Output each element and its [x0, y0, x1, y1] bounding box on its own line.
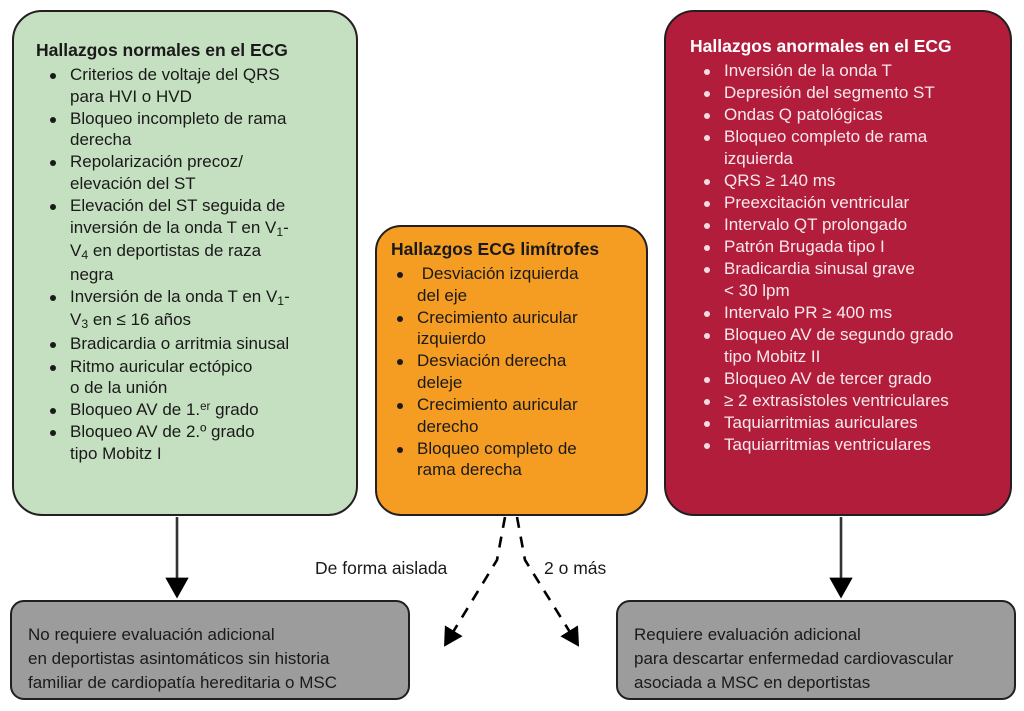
outcome-no-evaluation-box: No requiere evaluación adicional en depo… — [10, 600, 410, 700]
list-item: Taquiarritmias ventriculares — [698, 434, 998, 456]
list-item: Depresión del segmento ST — [698, 82, 998, 104]
list-item: Taquiarritmias auriculares — [698, 412, 998, 434]
borderline-findings-box: Hallazgos ECG limítrofes Desviación izqu… — [375, 225, 648, 516]
list-item: Bloqueo AV de 2.º gradotipo Mobitz I — [44, 421, 348, 464]
list-item: Intervalo PR ≥ 400 ms — [698, 302, 998, 324]
borderline-findings-list: Desviación izquierdadel eje Crecimiento … — [391, 263, 641, 481]
list-item: Patrón Brugada tipo I — [698, 236, 998, 258]
list-item: Desviación izquierdadel eje — [391, 263, 641, 306]
list-item: Intervalo QT prolongado — [698, 214, 998, 236]
arrow-borderline-isolated — [450, 517, 505, 637]
normal-findings-list: Criterios de voltaje del QRSpara HVI o H… — [44, 64, 348, 465]
list-item: Elevación del ST seguida deinversión de … — [44, 195, 348, 285]
list-item: Bloqueo incompleto de ramaderecha — [44, 108, 348, 151]
borderline-findings-title: Hallazgos ECG limítrofes — [391, 239, 599, 261]
outcome-evaluation-text: Requiere evaluación adicional para desca… — [634, 623, 953, 695]
abnormal-findings-box: Hallazgos anormales en el ECG Inversión … — [664, 10, 1012, 516]
normal-findings-title: Hallazgos normales en el ECG — [36, 40, 288, 62]
list-item: Inversión de la onda T — [698, 60, 998, 82]
list-item: Crecimiento auricularderecho — [391, 394, 641, 437]
list-item: Bloqueo AV de segundo gradotipo Mobitz I… — [698, 324, 998, 367]
list-item: Bloqueo completo derama derecha — [391, 438, 641, 481]
list-item: QRS ≥ 140 ms — [698, 170, 998, 192]
outcome-evaluation-box: Requiere evaluación adicional para desca… — [616, 600, 1016, 700]
list-item: Ritmo auricular ectópicoo de la unión — [44, 356, 348, 399]
normal-findings-box: Hallazgos normales en el ECG Criterios d… — [12, 10, 358, 516]
edge-label-isolated: De forma aislada — [315, 558, 447, 579]
list-item: Desviación derechadeleje — [391, 350, 641, 393]
list-item: Inversión de la onda T en V1-V3 en ≤ 16 … — [44, 286, 348, 333]
list-item: Crecimiento auricularizquierdo — [391, 307, 641, 350]
diagram-canvas: Hallazgos normales en el ECG Criterios d… — [0, 0, 1024, 711]
list-item: Bloqueo completo de ramaizquierda — [698, 126, 998, 169]
list-item: Bloqueo AV de 1.er grado — [44, 399, 348, 421]
list-item: Bloqueo AV de tercer grado — [698, 368, 998, 390]
abnormal-findings-list: Inversión de la onda T Depresión del seg… — [698, 60, 998, 456]
list-item: ≥ 2 extrasístoles ventriculares — [698, 390, 998, 412]
outcome-no-evaluation-text: No requiere evaluación adicional en depo… — [28, 623, 337, 695]
abnormal-findings-title: Hallazgos anormales en el ECG — [690, 36, 952, 58]
list-item: Bradicardia sinusal grave< 30 lpm — [698, 258, 998, 301]
list-item: Preexcitación ventricular — [698, 192, 998, 214]
edge-label-two-or-more: 2 o más — [544, 558, 606, 579]
list-item: Bradicardia o arritmia sinusal — [44, 333, 348, 355]
list-item: Criterios de voltaje del QRSpara HVI o H… — [44, 64, 348, 107]
list-item: Repolarización precoz/elevación del ST — [44, 151, 348, 194]
list-item: Ondas Q patológicas — [698, 104, 998, 126]
